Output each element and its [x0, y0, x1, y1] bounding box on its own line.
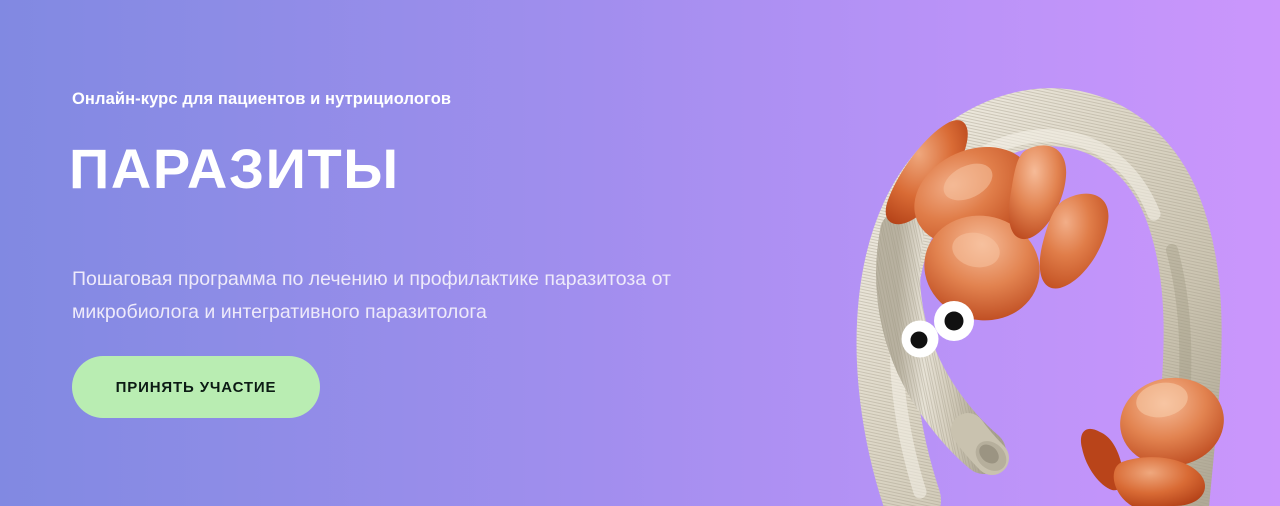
- page-title: ПАРАЗИТЫ: [69, 141, 400, 197]
- worm-body: [886, 117, 1193, 506]
- hero-banner: Онлайн-курс для пациентов и нутрициолого…: [0, 0, 1280, 506]
- hero-kicker: Онлайн-курс для пациентов и нутрициолого…: [72, 90, 451, 109]
- hero-subtitle: Пошаговая программа по лечению и профила…: [72, 263, 772, 329]
- blood-cell-blobs-lower: [1081, 371, 1230, 506]
- parasite-worm-illustration: [850, 0, 1280, 506]
- worm-head: [898, 232, 1012, 477]
- enroll-button[interactable]: ПРИНЯТЬ УЧАСТИЕ: [72, 356, 320, 418]
- hero-content: Онлайн-курс для пациентов и нутрициолого…: [72, 0, 832, 506]
- blood-cell-blobs-upper: [886, 120, 1109, 332]
- eye-left: [902, 321, 939, 358]
- eye-right: [934, 301, 974, 341]
- worm-googly-eyes: [902, 301, 975, 358]
